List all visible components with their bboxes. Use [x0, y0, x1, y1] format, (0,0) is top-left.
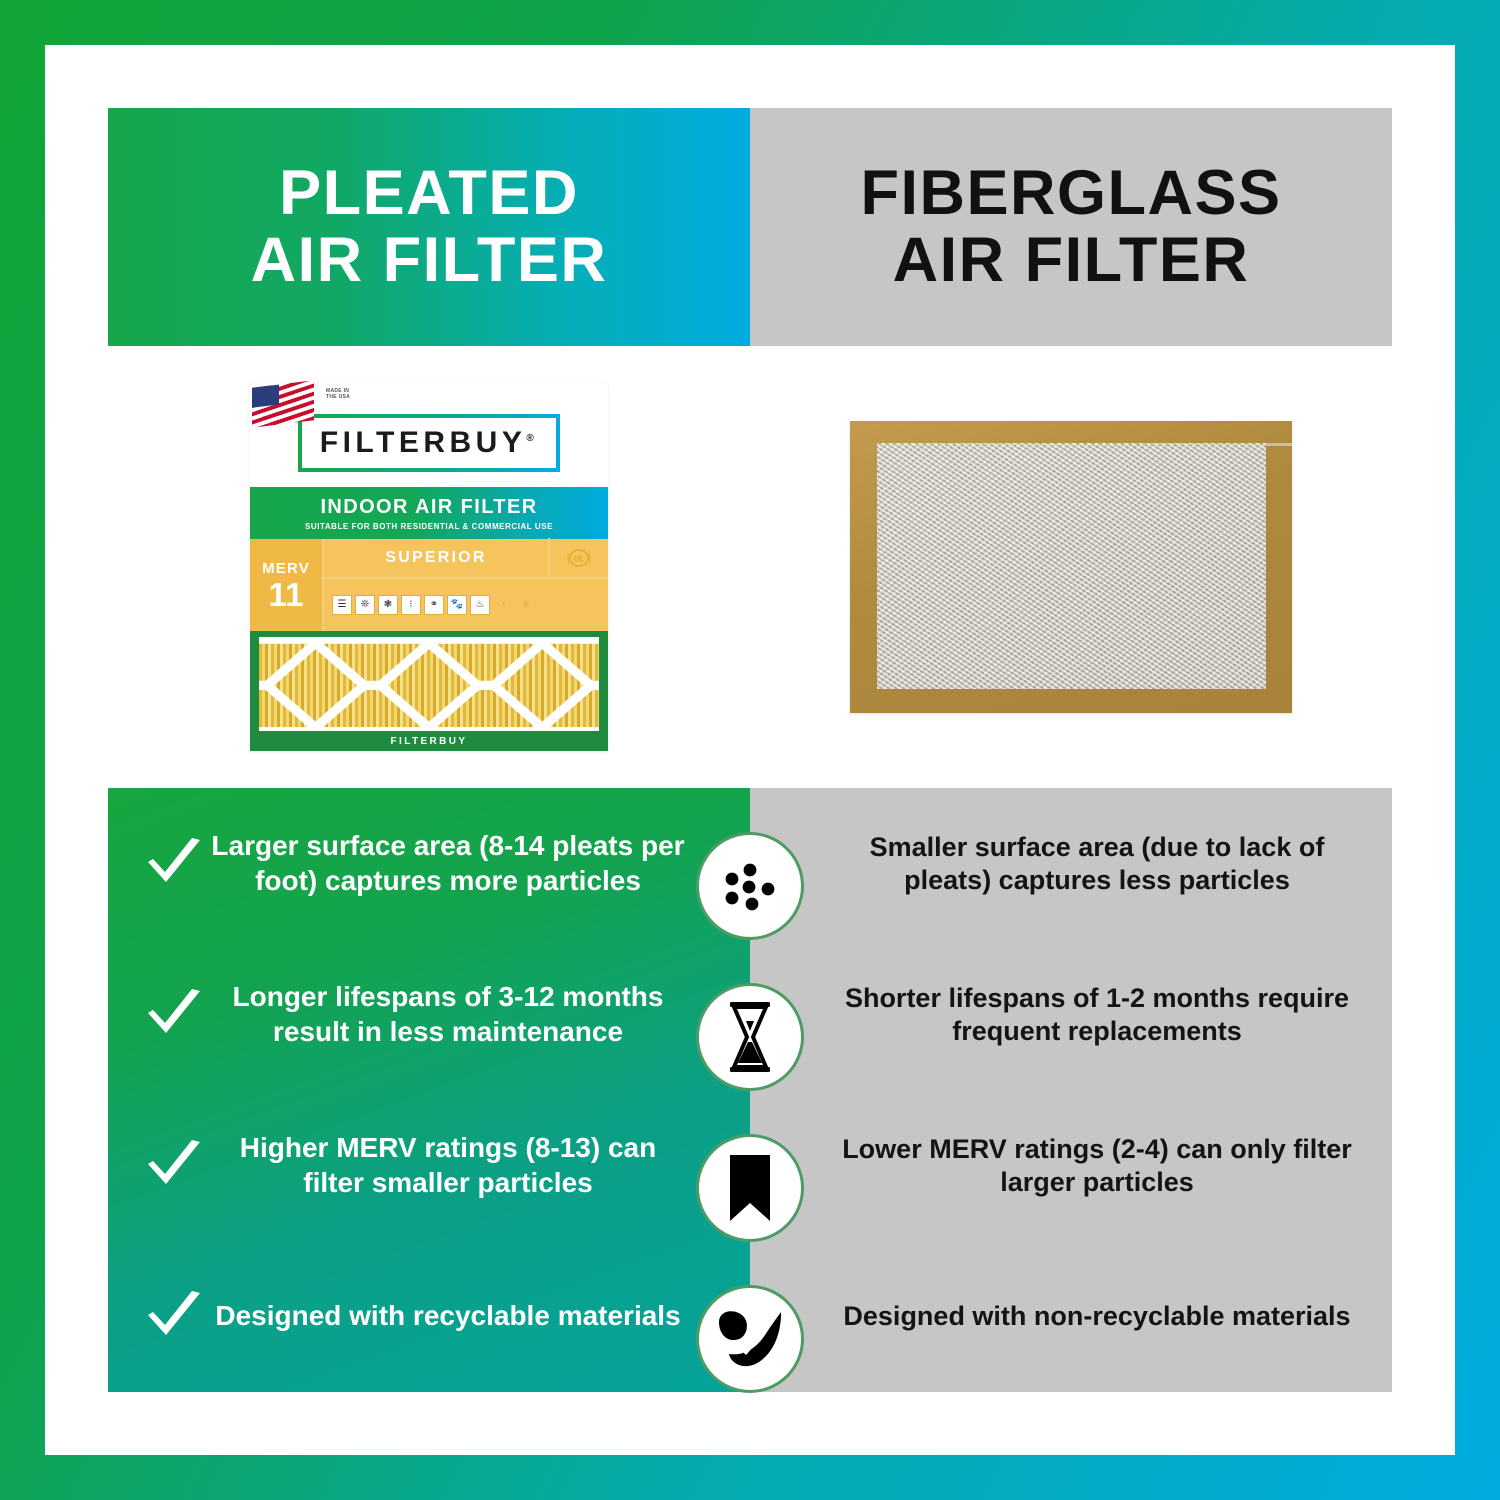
- comparison-column-pleated: Larger surface area (8-14 pleats per foo…: [108, 788, 750, 1392]
- header-fiberglass-line2: AIR FILTER: [860, 227, 1281, 294]
- content-area: PLEATED AIR FILTER FIBERGLASS AIR FILTER…: [108, 108, 1392, 1392]
- box-band-main: INDOOR AIR FILTER: [320, 496, 537, 519]
- comparison-text-left: Larger surface area (8-14 pleats per foo…: [210, 829, 686, 897]
- comparison-text-left: Longer lifespans of 3-12 months result i…: [210, 980, 686, 1048]
- ul-cert-icon: UL: [548, 538, 608, 578]
- box-merv-section: MERV 11 SUPERIOR UL: [250, 539, 608, 631]
- brand-logo-text: FILTERBUY®: [320, 426, 538, 460]
- comparison-row: Longer lifespans of 3-12 months result i…: [108, 939, 750, 1090]
- brand-logo-frame: FILTERBUY®: [298, 414, 560, 472]
- header-pleated-line1: PLEATED: [279, 158, 579, 228]
- dust-icon: ☰: [332, 595, 352, 615]
- merv-label: MERV: [262, 560, 310, 577]
- comparison-text-right: Shorter lifespans of 1-2 months require …: [832, 982, 1362, 1048]
- filterbuy-box-image: MADE INTHE USA FILTERBUY® INDOOR AIR FIL…: [250, 383, 608, 751]
- comparison-text-left: Designed with recyclable materials: [210, 1299, 686, 1333]
- merv-value: 11: [269, 578, 304, 611]
- header-pleated-title: PLEATED AIR FILTER: [251, 160, 608, 295]
- mold-icon: ⚭: [424, 595, 444, 615]
- feature-icon-strip: ☰ ❊ ❃ ⁝ ⚭ 🐾 ♨ ◔ ☣: [324, 579, 608, 631]
- comparison-text-right: Designed with non-recyclable materials: [832, 1300, 1362, 1333]
- pleated-media-view: FILTERBUY: [250, 631, 608, 751]
- tier-row: SUPERIOR UL: [324, 539, 608, 579]
- box-tier-area: SUPERIOR UL: [324, 539, 608, 631]
- comparison-row: Smaller surface area (due to lack of ple…: [750, 788, 1392, 939]
- hourglass-icon: [696, 983, 804, 1091]
- check-icon: [138, 1138, 210, 1194]
- check-icon: [138, 836, 210, 892]
- fiberglass-product-cell: [750, 346, 1392, 788]
- comparison-row: Higher MERV ratings (8-13) can filter sm…: [108, 1090, 750, 1241]
- box-product-band: INDOOR AIR FILTER SUITABLE FOR BOTH RESI…: [250, 487, 608, 539]
- box-top-section: MADE INTHE USA FILTERBUY®: [250, 383, 608, 487]
- particles-icon: ⁝: [401, 595, 421, 615]
- comparison-row: Larger surface area (8-14 pleats per foo…: [108, 788, 750, 939]
- box-footer-brand: FILTERBUY: [250, 736, 608, 747]
- pleat-media-texture: [259, 637, 599, 731]
- comparison-text-right: Lower MERV ratings (2-4) can only filter…: [832, 1133, 1362, 1199]
- comparison-text-right: Smaller surface area (due to lack of ple…: [832, 831, 1362, 897]
- check-icon: [138, 1289, 210, 1345]
- header-row: PLEATED AIR FILTER FIBERGLASS AIR FILTER: [108, 108, 1392, 346]
- comparison-row: Lower MERV ratings (2-4) can only filter…: [750, 1090, 1392, 1241]
- comparison-row: Designed with recyclable materials: [108, 1241, 750, 1392]
- header-fiberglass-title: FIBERGLASS AIR FILTER: [860, 160, 1281, 295]
- header-pleated-line2: AIR FILTER: [251, 227, 608, 294]
- smoke-icon: ♨: [470, 595, 490, 615]
- comparison-text-left: Higher MERV ratings (8-13) can filter sm…: [210, 1131, 686, 1199]
- tier-label: SUPERIOR: [324, 549, 548, 567]
- particles-icon: [696, 832, 804, 940]
- bookmark-icon: [696, 1134, 804, 1242]
- comparison-row: Shorter lifespans of 1-2 months require …: [750, 939, 1392, 1090]
- bacteria-icon: ❊: [355, 595, 375, 615]
- pollen-icon: ❃: [378, 595, 398, 615]
- header-fiberglass-line1: FIBERGLASS: [860, 158, 1281, 228]
- product-images-row: MADE INTHE USA FILTERBUY® INDOOR AIR FIL…: [108, 346, 1392, 788]
- infographic-canvas: PLEATED AIR FILTER FIBERGLASS AIR FILTER…: [0, 0, 1500, 1500]
- header-fiberglass: FIBERGLASS AIR FILTER: [750, 108, 1392, 346]
- merv-badge: MERV 11: [250, 539, 324, 631]
- pet-dander-icon: 🐾: [447, 595, 467, 615]
- fiberglass-filter-image: [850, 421, 1292, 713]
- header-pleated: PLEATED AIR FILTER: [108, 108, 750, 346]
- comparison-row: Designed with non-recyclable materials: [750, 1241, 1392, 1392]
- fiberglass-media: [877, 443, 1266, 689]
- leaf-icon: [696, 1285, 804, 1393]
- pleated-product-cell: MADE INTHE USA FILTERBUY® INDOOR AIR FIL…: [108, 346, 750, 788]
- comparison-column-fiberglass: Smaller surface area (due to lack of ple…: [750, 788, 1392, 1392]
- usa-flag-icon: [252, 380, 314, 428]
- box-band-sub: SUITABLE FOR BOTH RESIDENTIAL & COMMERCI…: [305, 522, 553, 531]
- check-icon: [138, 987, 210, 1043]
- allergen-icon: ☣: [516, 595, 536, 615]
- svg-text:UL: UL: [574, 555, 585, 564]
- frame-seam: [1266, 443, 1292, 446]
- odor-icon: ◔: [493, 595, 513, 615]
- made-in-usa-label: MADE INTHE USA: [326, 388, 350, 401]
